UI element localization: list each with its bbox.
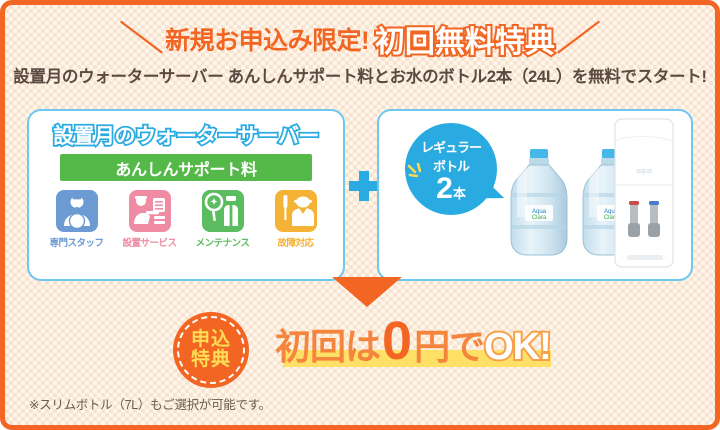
service-label-maintenance: メンテナンス: [190, 235, 256, 249]
slash-left-icon: ＼: [120, 22, 165, 56]
down-arrow-icon: [332, 277, 402, 307]
headline-eyebrow: 新規お申込み限定!: [165, 21, 369, 57]
repair-icon: [275, 190, 317, 232]
service-label-installation: 設置サービス: [117, 235, 183, 249]
service-item-staff: 専門スタッフ: [44, 190, 110, 249]
bubble-line1: レギュラー: [405, 123, 497, 156]
badge-line2: 特典: [191, 350, 231, 370]
svg-text:aqua: aqua: [636, 168, 652, 175]
service-item-repair: 故障対応: [263, 190, 329, 249]
installation-icon: [129, 190, 171, 232]
offer-summary: 申込 特典 初回は 0 円で OK!: [5, 308, 715, 388]
slash-right-icon: ／: [555, 22, 600, 56]
bubble-unit: 本: [453, 186, 466, 201]
service-item-installation: 設置サービス: [117, 190, 183, 249]
support-card: 設置月のウォーターサーバー あんしんサポート料 専門スタッフ: [27, 109, 345, 281]
badge-line1: 申込: [191, 330, 231, 350]
banner-header: ＼ 新規お申込み限定! 初回無料特典 ／ 設置月のウォーターサーバー あんしんサ…: [5, 19, 715, 87]
service-item-maintenance: メンテナンス: [190, 190, 256, 249]
application-benefit-badge: 申込 特典: [173, 312, 249, 388]
headline-title: 初回無料特典: [375, 17, 555, 61]
price-unit: 円で: [414, 318, 484, 370]
banner-subtitle: 設置月のウォーターサーバー あんしんサポート料とお水のボトル2本（24L）を無料…: [5, 63, 715, 87]
svg-text:Clara: Clara: [532, 215, 547, 221]
support-fee-bar: あんしんサポート料: [60, 154, 312, 181]
support-card-title: 設置月のウォーターサーバー: [29, 120, 343, 150]
price-prefix: 初回は: [275, 318, 380, 370]
water-dispenser: aqua: [611, 115, 679, 275]
price-ok-label: OK!: [484, 326, 551, 369]
headline: ＼ 新規お申込み限定! 初回無料特典 ／: [125, 19, 595, 59]
maintenance-icon: [202, 190, 244, 232]
sparkle-icon: [407, 163, 429, 181]
price-callout: 初回は 0 円で OK!: [275, 314, 551, 370]
promo-banner: ＼ 新規お申込み限定! 初回無料特典 ／ 設置月のウォーターサーバー あんしんサ…: [0, 0, 720, 430]
water-bottle: Aqua Clara: [505, 147, 573, 259]
staff-icon: [56, 190, 98, 232]
service-label-repair: 故障対応: [263, 235, 329, 249]
service-icon-list: 専門スタッフ: [29, 190, 343, 249]
service-label-staff: 専門スタッフ: [44, 235, 110, 249]
bottle-card: レギュラー ボトル 2本: [377, 109, 693, 281]
bubble-count: 2: [436, 172, 453, 205]
footnote: ※スリムボトル（7L）もご選択が可能です。: [29, 394, 271, 413]
offer-cards: 設置月のウォーターサーバー あんしんサポート料 専門スタッフ: [27, 109, 693, 281]
price-amount: 0: [382, 314, 412, 368]
plus-icon: [349, 171, 379, 201]
